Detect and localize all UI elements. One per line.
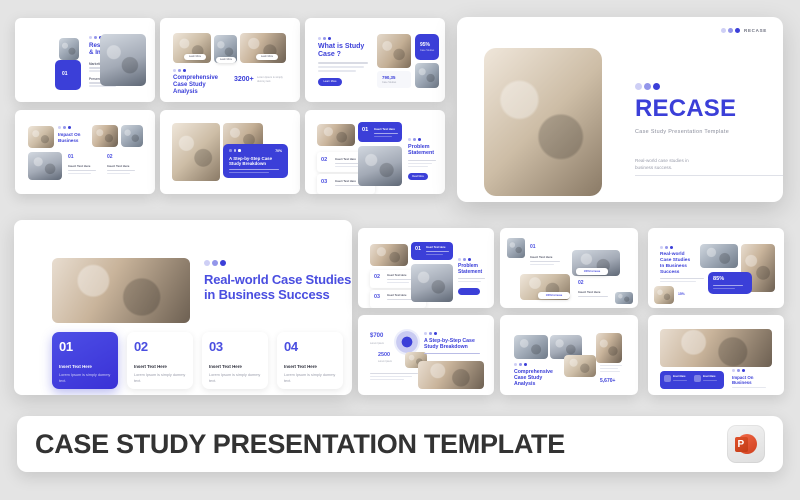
featured-card-list: 01 Insert Text Here Lorem Ipsum is simpl… (52, 332, 343, 389)
thumb-badge: 100% Increase (538, 292, 570, 299)
accent-dots-icon (514, 363, 527, 366)
thumb-title: Impact On Business (58, 132, 88, 143)
thumb-col-number: 01 (68, 154, 74, 160)
thumb-stat: $700 (370, 333, 383, 339)
thumb-stat-small: 15% (678, 292, 685, 296)
thumb-title: A Step-by-Step Case Study Breakdown (229, 156, 283, 167)
thumb-title: A Step-by-Step Case Study Breakdown (424, 338, 486, 350)
featured-card[interactable]: 04 Insert Text Here Lorem Ipsum is simpl… (277, 332, 343, 389)
card-body: Lorem Ipsum is simply dummy text. (209, 373, 261, 384)
thumb-col-heading: Insert Text Here (68, 164, 90, 168)
thumb-photo (121, 125, 143, 147)
thumb-col-heading: Insert Text Here (107, 164, 129, 168)
featured-photo (52, 258, 190, 323)
thumb-title: Impact On Business (732, 375, 768, 386)
thumb-chip-button[interactable]: Learn More (216, 57, 236, 63)
accent-dots-icon (424, 332, 437, 335)
thumb-stat: 85% (713, 276, 724, 282)
thumb-col-number: 02 (578, 280, 584, 286)
thumb-title: Comprehensive Case Study Analysis (173, 75, 231, 97)
brand-logo-text: RECASE (744, 28, 767, 33)
thumb-photo (596, 333, 622, 363)
thumb-stat: 70% (275, 149, 282, 153)
hero-footnote: Real-world case studies in business succ… (635, 158, 783, 176)
divider (635, 175, 783, 176)
badge-block: 01 (55, 60, 81, 90)
slide-thumb-impact-on-business-top[interactable]: Impact On Business 01 Insert Text Here 0… (15, 110, 155, 194)
thumb-stat-label: Lorem Ipsum (378, 360, 392, 363)
page-title: CASE STUDY PRESENTATION TEMPLATE (35, 429, 565, 460)
thumb-stat-box: 95% Case Studies (415, 34, 439, 60)
slide-thumb-problem-statement-top[interactable]: 01 Insert Text Here 02 Insert Text Here … (305, 110, 445, 194)
slide-hero-recase[interactable]: RECASE RECASE Case Study Presentation Te… (457, 17, 783, 202)
accent-dots-icon (58, 126, 71, 129)
thumb-photo (370, 244, 408, 266)
thumb-photo (418, 361, 484, 389)
slide-thumb-research-insight[interactable]: 01 Research & Insight Marketing Case Pre… (15, 18, 155, 102)
slide-thumb-what-is-study-case[interactable]: What is Study Case ? Learn More 95% Case… (305, 18, 445, 102)
thumb-chip-group: Insert Here Insert Here (660, 371, 724, 389)
card-heading: Insert Text Here (209, 364, 261, 369)
slide-thumb-insert-text-pair[interactable]: 01 Insert Text Here 100% Increase 100% I… (500, 228, 638, 308)
card-number: 03 (209, 339, 261, 354)
card-heading: Insert Text Here (284, 364, 336, 369)
thumb-stat-label: Lorem Ipsum (370, 342, 384, 345)
thumb-photo (415, 63, 439, 88)
hero-footnote-text: Real-world case studies in business succ… (635, 158, 783, 172)
thumb-chip-button[interactable]: Learn More (256, 54, 278, 60)
slide-featured-real-world[interactable]: Real-world Case Studies in Business Succ… (14, 220, 352, 395)
thumb-photo (564, 355, 596, 377)
thumb-stat: 5,670+ (600, 378, 615, 384)
thumb-col-number: 01 (530, 244, 536, 250)
slide-thumb-comprehensive-top[interactable]: Learn More Learn More Learn More Compreh… (160, 18, 300, 102)
thumb-photo (411, 264, 453, 302)
thumb-photo (100, 34, 146, 86)
card-number: 04 (284, 339, 336, 354)
accent-dots-icon (732, 369, 745, 372)
thumb-photo (317, 124, 355, 146)
accent-dots-icon (318, 37, 331, 40)
thumb-stat-box: 85% (708, 272, 752, 294)
thumb-col-number: 02 (107, 154, 113, 160)
badge-number: 01 (62, 71, 68, 77)
thumb-cta-button[interactable]: Read More (408, 173, 428, 180)
chip-icon (694, 375, 701, 382)
hero-title: RECASE (635, 97, 771, 121)
slide-thumb-real-world-small[interactable]: Real-world Case Studies In Business Succ… (648, 228, 784, 308)
template-preview-canvas: 01 Research & Insight Marketing Case Pre… (0, 0, 800, 500)
thumb-stat-box: 790,35 Case Studies (377, 71, 411, 88)
slide-thumb-impact-bottom[interactable]: Insert Here Insert Here Impact On Busine… (648, 315, 784, 395)
card-number: 01 (59, 339, 111, 354)
thumb-badge: 100% Increase (576, 268, 608, 275)
thumb-photo (358, 146, 402, 186)
card-heading: Insert Text Here (59, 364, 111, 369)
thumb-stat: 3200+ (234, 76, 254, 83)
accent-dots-icon (173, 69, 186, 72)
hero-photo (484, 48, 602, 196)
thumb-cta-button[interactable] (458, 288, 480, 295)
thumb-title: Real-world Case Studies In Business Succ… (660, 252, 696, 275)
powerpoint-icon[interactable]: P (727, 425, 765, 463)
thumb-number-card: 01 Insert Text Here (411, 242, 453, 260)
thumb-photo (654, 286, 674, 304)
accent-dots-icon (660, 246, 673, 249)
thumb-cta-button[interactable]: Learn More (318, 78, 342, 86)
featured-card[interactable]: 01 Insert Text Here Lorem Ipsum is simpl… (52, 332, 118, 389)
slide-thumb-step-by-step-bottom[interactable]: $700 Lorem Ipsum 2500 Lorem Ipsum A Step… (358, 315, 494, 395)
accent-dots-icon (721, 28, 740, 33)
card-body: Lorem Ipsum is simply dummy text. (284, 373, 336, 384)
thumb-title: What is Study Case ? (318, 43, 370, 60)
chip-icon (664, 375, 671, 382)
accent-dots-icon (204, 260, 352, 266)
accent-dots-icon (635, 83, 771, 90)
thumb-photo (28, 152, 62, 180)
thumb-caption: Lorem Ipsum is simply dummy text. (257, 76, 287, 84)
thumb-title: Problem Statement (408, 144, 440, 157)
slide-thumb-step-by-step-top[interactable]: 70% A Step-by-Step Case Study Breakdown (160, 110, 300, 194)
thumb-photo (514, 335, 548, 359)
thumb-photo (615, 292, 633, 304)
accent-dots-icon (458, 258, 471, 261)
thumb-title: Comprehensive Case Study Analysis (514, 369, 562, 388)
thumb-photo (92, 125, 118, 147)
featured-title: Real-world Case Studies in Business Succ… (204, 272, 352, 303)
accent-dots-icon (408, 138, 421, 141)
card-heading: Insert Text Here (134, 364, 186, 369)
footer-title-bar: CASE STUDY PRESENTATION TEMPLATE P (17, 416, 783, 472)
thumb-callout-box: 70% A Step-by-Step Case Study Breakdown (223, 144, 288, 178)
featured-card[interactable]: 03 Insert Text Here Lorem Ipsum is simpl… (202, 332, 268, 389)
card-body: Lorem Ipsum is simply dummy text. (134, 373, 186, 384)
card-number: 02 (134, 339, 186, 354)
powerpoint-letter: P (738, 439, 745, 451)
thumb-stat: 2500 (378, 352, 390, 358)
thumb-col-heading: Insert Text Here (530, 255, 552, 259)
hero-subtitle: Case Study Presentation Template (635, 129, 771, 135)
thumb-title: Problem Statement (458, 264, 490, 276)
thumb-photo (377, 34, 411, 68)
thumb-number-card: 01 Insert Text Here (358, 122, 402, 142)
brand-logo: RECASE (721, 28, 767, 33)
thumb-photo (28, 126, 54, 148)
thumb-photo (660, 329, 772, 367)
card-body: Lorem Ipsum is simply dummy text. (59, 373, 111, 384)
thumb-photo (59, 38, 79, 60)
thumb-photo (700, 244, 738, 268)
featured-card[interactable]: 02 Insert Text Here Lorem Ipsum is simpl… (127, 332, 193, 389)
slide-thumb-problem-statement-bottom[interactable]: 01 Insert Text Here 02 Insert Text Here … (358, 228, 494, 308)
thumb-chip-button[interactable]: Learn More (184, 54, 206, 60)
thumb-photo (172, 123, 220, 181)
slide-thumb-comprehensive-bottom[interactable]: Comprehensive Case Study Analysis 5,670+ (500, 315, 638, 395)
thumb-photo (507, 238, 525, 258)
thumb-col-heading: Insert Text Here (578, 290, 600, 294)
